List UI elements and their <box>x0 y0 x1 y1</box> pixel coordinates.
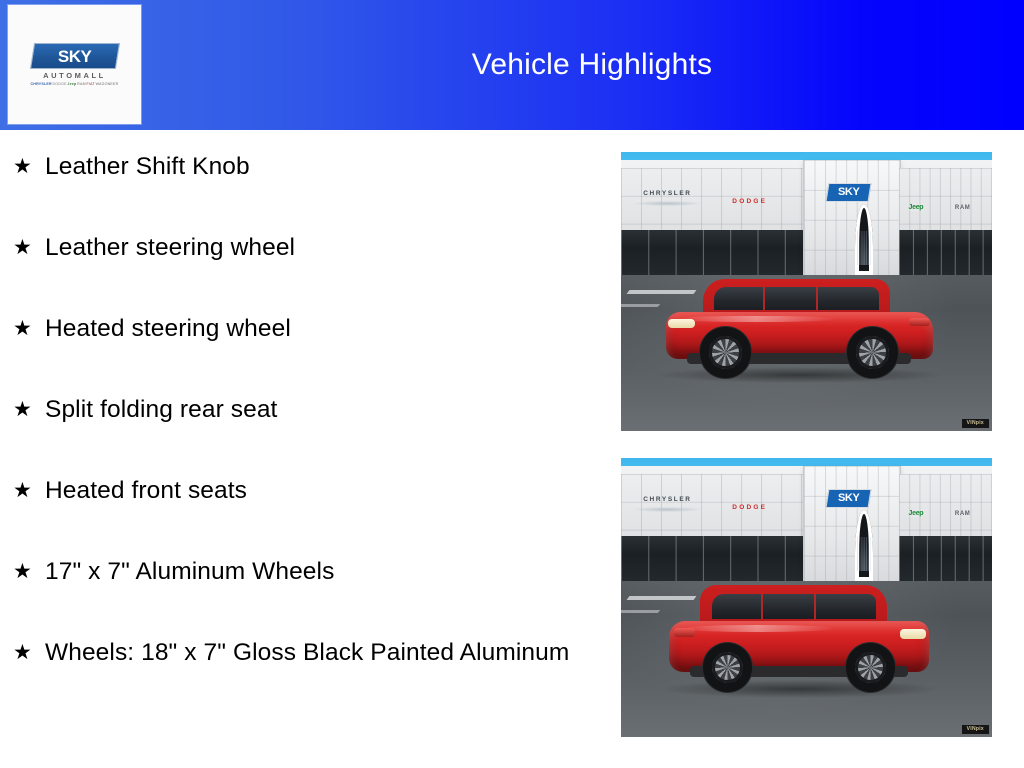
page-title: Vehicle Highlights <box>160 0 1024 130</box>
vehicle-rear-wheel <box>847 327 898 378</box>
photo-watermark: VINpix <box>962 419 989 428</box>
vehicle-roofline <box>703 279 890 314</box>
list-item: ★ Wheels: 18" x 7" Gloss Black Painted A… <box>12 638 597 668</box>
brand-wagoneer-icon: WAGONEER <box>96 82 119 86</box>
vehicle-windows <box>712 594 877 619</box>
brand-dodge-icon: DODGE <box>52 82 66 86</box>
feature-label: Heated steering wheel <box>45 314 597 344</box>
vehicle-taillight <box>909 318 930 326</box>
brand-fiat-icon: FIAT <box>87 82 95 86</box>
automall-logo-text: AUTOMALL <box>43 72 106 80</box>
vehicle-jeep-compass <box>669 581 929 693</box>
showroom-glass <box>621 230 803 275</box>
feature-label: Wheels: 18" x 7" Gloss Black Painted Alu… <box>45 638 597 668</box>
showroom-glass <box>899 230 992 275</box>
list-item: ★ 17" x 7" Aluminum Wheels <box>12 557 597 587</box>
star-bullet-icon: ★ <box>12 152 45 182</box>
arch-glass <box>857 537 871 571</box>
building-left-wing <box>621 474 804 580</box>
brand-chrysler-icon: CHRYSLER <box>31 82 52 86</box>
star-bullet-icon: ★ <box>12 638 45 668</box>
building-right-wing <box>899 474 992 580</box>
sky-logo-text: SKY <box>58 47 91 64</box>
sign-ram: RAM <box>955 511 970 517</box>
sign-dodge: DODGE <box>732 199 767 206</box>
sign-sky: SKY <box>825 183 871 202</box>
feature-label: Heated front seats <box>45 476 597 506</box>
brand-jeep-icon: Jeep <box>67 82 76 86</box>
logo-inner: SKY AUTOMALL CHRYSLER DODGE Jeep RAM FIA… <box>27 43 123 87</box>
feature-label: Leather Shift Knob <box>45 152 597 182</box>
list-item: ★ Heated steering wheel <box>12 314 597 344</box>
brand-ram-icon: RAM <box>77 82 86 86</box>
parking-stripe <box>621 304 659 307</box>
list-item: ★ Split folding rear seat <box>12 395 597 425</box>
panel-lines <box>804 466 900 580</box>
star-bullet-icon: ★ <box>12 314 45 344</box>
list-item: ★ Leather Shift Knob <box>12 152 597 182</box>
vehicle-jeep-compass <box>666 275 933 378</box>
vehicle-front-wheel <box>700 327 751 378</box>
sign-jeep: Jeep <box>909 510 924 517</box>
list-item: ★ Leather steering wheel <box>12 233 597 263</box>
star-bullet-icon: ★ <box>12 557 45 587</box>
vehicle-photo-side[interactable]: CHRYSLER DODGE SKY Jeep RAM VINpix <box>621 152 992 431</box>
sign-sky-text: SKY <box>838 187 859 198</box>
window-mullions <box>899 230 992 275</box>
sign-jeep: Jeep <box>909 204 924 211</box>
vehicle-shadow <box>661 680 936 698</box>
vehicle-headlight <box>900 629 926 639</box>
star-bullet-icon: ★ <box>12 233 45 263</box>
vehicle-highlight <box>676 316 836 323</box>
building-entry-tower <box>803 466 901 580</box>
feature-label: 17" x 7" Aluminum Wheels <box>45 557 597 587</box>
vehicle-photo-rear-quarter[interactable]: CHRYSLER DODGE SKY Jeep RAM VINpix <box>621 458 992 737</box>
arch-glass <box>857 231 871 265</box>
sign-sky-text: SKY <box>838 493 859 504</box>
sign-sky: SKY <box>825 489 871 508</box>
slide-content: ★ Leather Shift Knob ★ Leather steering … <box>0 130 1024 768</box>
sign-ram: RAM <box>955 205 970 211</box>
vehicle-highlight <box>680 625 836 632</box>
vehicle-windows <box>714 287 879 310</box>
photo-watermark: VINpix <box>962 725 989 734</box>
sky-logo-plate: SKY <box>29 43 119 69</box>
window-mullions <box>899 536 992 581</box>
feature-label: Split folding rear seat <box>45 395 597 425</box>
window-mullions <box>621 230 803 275</box>
sign-chrysler: CHRYSLER <box>643 497 691 504</box>
building-left-wing <box>621 168 804 274</box>
vehicle-feature-list: ★ Leather Shift Knob ★ Leather steering … <box>12 152 597 668</box>
building-right-wing <box>899 168 992 274</box>
window-mullions <box>621 536 803 581</box>
dealer-logo[interactable]: SKY AUTOMALL CHRYSLER DODGE Jeep RAM FIA… <box>8 5 141 124</box>
dealership-building: CHRYSLER DODGE SKY Jeep RAM <box>621 466 992 580</box>
vehicle-headlight <box>668 319 695 328</box>
feature-label: Leather steering wheel <box>45 233 597 263</box>
list-item: ★ Heated front seats <box>12 476 597 506</box>
vehicle-taillight <box>674 628 695 637</box>
building-entry-tower <box>803 160 901 274</box>
star-bullet-icon: ★ <box>12 395 45 425</box>
sign-chrysler: CHRYSLER <box>643 191 691 198</box>
star-bullet-icon: ★ <box>12 476 45 506</box>
showroom-glass <box>621 536 803 581</box>
parking-stripe <box>621 610 659 613</box>
dealership-building: CHRYSLER DODGE SKY Jeep RAM <box>621 160 992 274</box>
logo-brand-strip: CHRYSLER DODGE Jeep RAM FIAT WAGONEER <box>31 82 119 86</box>
panel-lines <box>804 160 900 274</box>
vehicle-shadow <box>658 367 941 384</box>
page-header: Vehicle Highlights SKY AUTOMALL CHRYSLER… <box>0 0 1024 130</box>
sign-dodge: DODGE <box>732 505 767 512</box>
showroom-glass <box>899 536 992 581</box>
vehicle-roofline <box>700 585 887 623</box>
